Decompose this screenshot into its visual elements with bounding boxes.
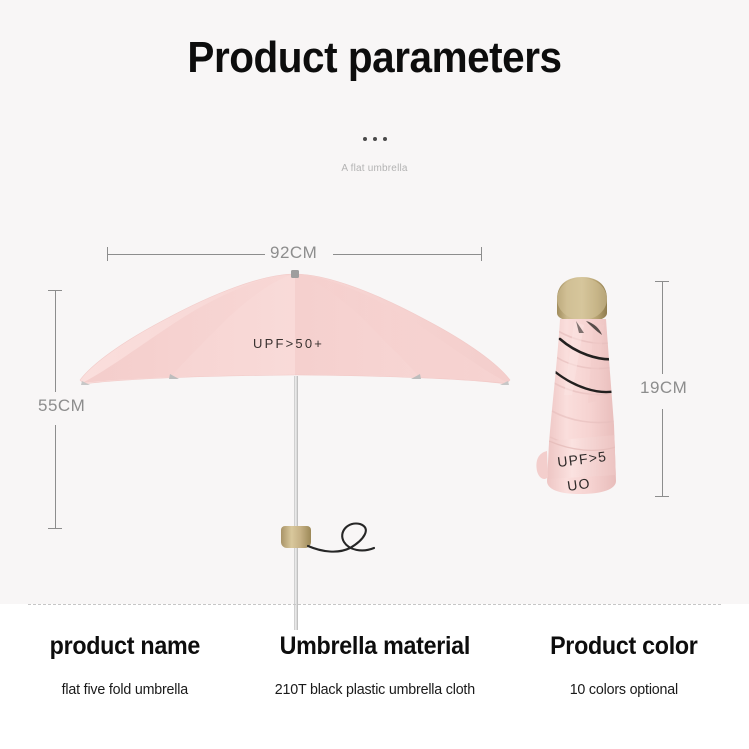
dot-separator-icon xyxy=(0,130,749,142)
spec-heading: product name xyxy=(9,630,241,662)
spec-value: 210T black plastic umbrella cloth xyxy=(256,680,493,700)
dimension-cap-right xyxy=(481,247,482,261)
spec-heading: Product color xyxy=(508,630,740,662)
dimension-line-upper-segment xyxy=(662,281,663,374)
umbrella-wrist-strap xyxy=(304,520,384,570)
dimension-cap-bottom xyxy=(655,496,669,497)
umbrella-shaft xyxy=(294,376,298,630)
page-title: Product parameters xyxy=(30,32,719,84)
dimension-line-lower-segment xyxy=(662,409,663,496)
folded-umbrella-side-tab xyxy=(536,451,548,479)
open-umbrella-illustration: UPF>50+ xyxy=(78,268,512,568)
spec-column-umbrella-material: Umbrella material 210T black plastic umb… xyxy=(250,630,500,700)
spec-value: flat five fold umbrella xyxy=(6,680,243,700)
spec-column-product-name: product name flat five fold umbrella xyxy=(0,630,250,700)
spec-column-product-color: Product color 10 colors optional xyxy=(499,630,749,700)
spec-table: product name flat five fold umbrella Umb… xyxy=(0,630,749,700)
dimension-line-lower-segment xyxy=(55,425,56,528)
section-divider xyxy=(28,604,721,605)
dimension-line-right-segment xyxy=(333,254,481,255)
dimension-line-left-segment xyxy=(107,254,265,255)
spec-heading: Umbrella material xyxy=(258,630,490,662)
page-subtitle: A flat umbrella xyxy=(0,163,749,174)
dimension-cap-bottom xyxy=(48,528,62,529)
dimension-label-width: 92CM xyxy=(270,243,317,263)
canopy-upf-label: UPF>50+ xyxy=(253,336,324,351)
dimension-line-upper-segment xyxy=(55,290,56,392)
spec-value: 10 colors optional xyxy=(506,680,743,700)
product-parameters-page: Product parameters A flat umbrella 92CM … xyxy=(0,0,749,749)
folded-umbrella-illustration: UPF>5 UO xyxy=(524,275,650,507)
folded-band-secondary-label: UO xyxy=(566,475,591,494)
